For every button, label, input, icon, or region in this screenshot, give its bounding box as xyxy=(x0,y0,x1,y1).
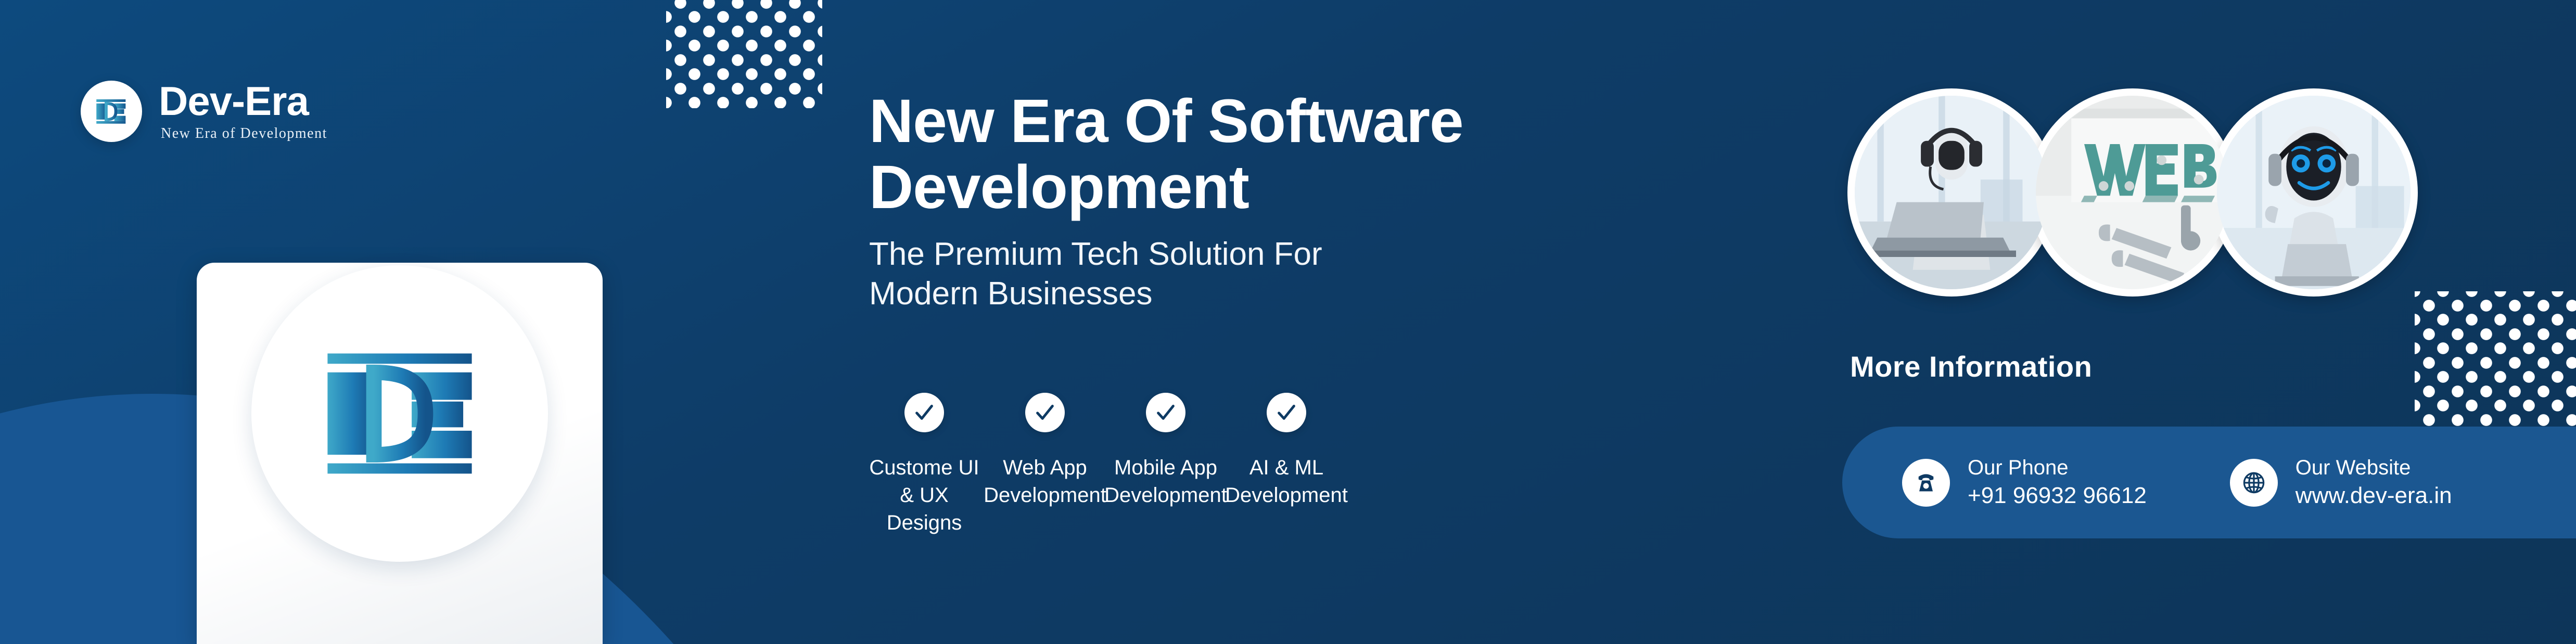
contact-phone-value: +91 96932 96612 xyxy=(1968,481,2147,510)
promotional-banner: Dev-Era New Era of Development xyxy=(0,0,2576,644)
check-circle-icon xyxy=(1267,393,1306,432)
feature-item[interactable]: AI & ML Development xyxy=(1226,393,1347,536)
contact-bar: Our Phone +91 96932 96612 O xyxy=(1842,427,2576,538)
contact-phone[interactable]: Our Phone +91 96932 96612 xyxy=(1902,455,2147,511)
check-circle-icon xyxy=(1025,393,1065,432)
contact-phone-label: Our Phone xyxy=(1968,455,2147,481)
de-monogram-icon xyxy=(81,81,142,142)
photo-strip xyxy=(1847,88,2418,297)
feature-label: Custome UI & UX Designs xyxy=(864,454,985,536)
feature-list: Custome UI & UX Designs Web App Developm… xyxy=(864,393,1347,536)
headline-block: New Era Of Software Development The Prem… xyxy=(869,88,1754,313)
telephone-icon xyxy=(1902,459,1950,507)
brand-logo-lockup[interactable]: Dev-Era New Era of Development xyxy=(81,81,327,142)
web-3d-text-photo xyxy=(2029,88,2237,297)
feature-label: AI & ML Development xyxy=(1225,454,1348,509)
feature-item[interactable]: Web App Development xyxy=(985,393,1105,536)
de-monogram-icon xyxy=(251,265,548,562)
subhead-line-2: Modern Businesses xyxy=(869,274,1754,314)
contact-website-label: Our Website xyxy=(2296,455,2452,481)
feature-label: Web App Development xyxy=(984,454,1106,509)
contact-website[interactable]: Our Website www.dev-era.in xyxy=(2230,455,2452,511)
smiling-robot-photo xyxy=(2210,88,2418,297)
page-title: New Era Of Software Development xyxy=(869,88,1754,221)
contact-website-value: www.dev-era.in xyxy=(2296,481,2452,510)
feature-label: Mobile App Development xyxy=(1104,454,1227,509)
headline-line-1: New Era Of Software xyxy=(869,88,1754,154)
brand-name: Dev-Era xyxy=(159,81,327,121)
check-circle-icon xyxy=(1146,393,1185,432)
headline-line-2: Development xyxy=(869,154,1754,221)
check-circle-icon xyxy=(904,393,944,432)
globe-icon xyxy=(2230,459,2278,507)
subhead-line-1: The Premium Tech Solution For xyxy=(869,235,1754,274)
hero-logo-card xyxy=(197,263,603,644)
brand-tagline: New Era of Development xyxy=(159,125,327,142)
robot-at-laptop-photo xyxy=(1847,88,2056,297)
dot-pattern-right xyxy=(2415,291,2576,447)
more-information-heading: More Information xyxy=(1850,350,2092,383)
feature-item[interactable]: Mobile App Development xyxy=(1105,393,1226,536)
dot-pattern-top xyxy=(666,0,822,108)
page-subtitle: The Premium Tech Solution For Modern Bus… xyxy=(869,235,1754,313)
feature-item[interactable]: Custome UI & UX Designs xyxy=(864,393,985,536)
